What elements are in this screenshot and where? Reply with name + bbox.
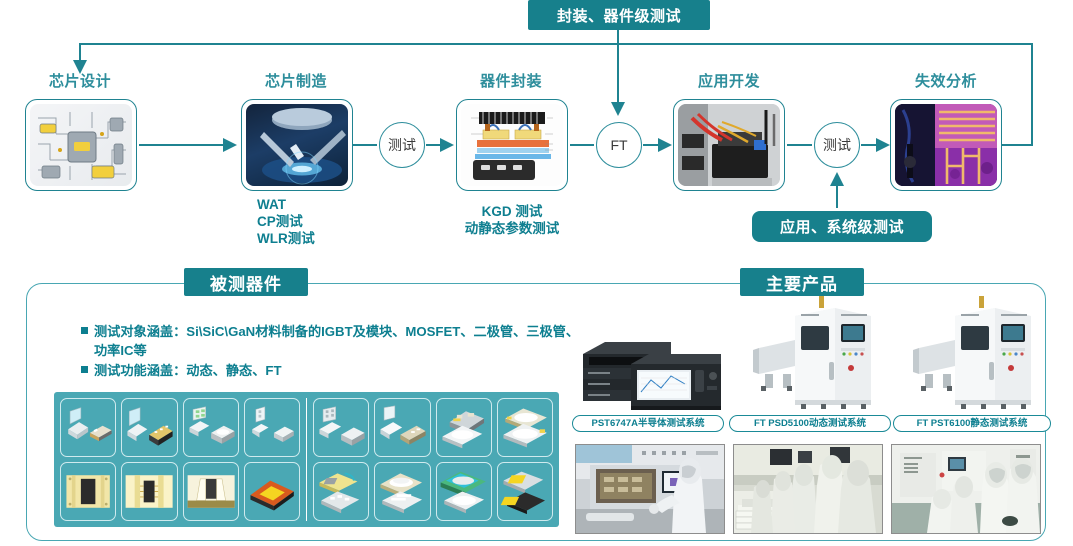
device-thumb	[244, 398, 300, 457]
stage-node-device-package[interactable]	[456, 99, 568, 191]
connector-test-2-label: 测试	[823, 135, 851, 155]
dut-bullet-list: 测试对象涵盖：Si\SiC\GaN材料制备的IGBT及模块、MOSFET、二极管…	[81, 322, 581, 381]
stage-label-chip-design: 芯片设计	[0, 70, 160, 91]
banner-application-system-test: 应用、系统级测试	[752, 211, 932, 242]
device-thumb	[313, 398, 369, 457]
device-thumb	[436, 398, 492, 457]
section-header-main-products-label: 主要产品	[766, 270, 838, 295]
connector-ft[interactable]: FT	[596, 122, 642, 168]
banner-application-system-test-label: 应用、系统级测试	[780, 216, 904, 237]
stage-note-device-package: KGD 测试 动静态参数测试	[412, 203, 612, 237]
device-gallery-group-2	[306, 398, 553, 521]
dut-bullet-2: 测试功能涵盖：动态、静态、FT	[81, 361, 581, 380]
bottom-panel: 被测器件 主要产品 测试对象涵盖：Si\SiC\GaN材料制备的IGBT及模块、…	[26, 283, 1046, 541]
connector-test-1[interactable]: 测试	[379, 122, 425, 168]
product-image-psd5100	[745, 296, 875, 414]
package-cross-section-image	[461, 104, 563, 186]
wafer-probe-image	[246, 104, 348, 186]
device-thumb	[60, 462, 116, 521]
connector-test-2[interactable]: 测试	[814, 122, 860, 168]
stage-label-device-package: 器件封装	[431, 70, 591, 91]
cleanroom-line-photo	[733, 444, 883, 534]
failure-analysis-image	[895, 104, 997, 186]
device-thumb	[374, 462, 430, 521]
product-label-psd5100: FT PSD5100动态测试系统	[729, 415, 891, 432]
device-gallery-group-1	[60, 398, 300, 521]
device-gallery	[54, 392, 559, 527]
stage-label-failure-analysis: 失效分析	[866, 70, 1026, 91]
device-thumb	[374, 398, 430, 457]
device-thumb	[497, 462, 553, 521]
stage-node-chip-manufacture[interactable]	[241, 99, 353, 191]
stage-label-application-dev: 应用开发	[649, 70, 809, 91]
chip-design-image	[30, 104, 132, 186]
product-image-pst6747a	[575, 318, 723, 414]
cleanroom-operator-photo	[575, 444, 725, 534]
application-board-image	[678, 104, 780, 186]
device-thumb	[183, 398, 239, 457]
product-image-pst6100	[905, 296, 1035, 414]
device-thumb	[121, 398, 177, 457]
cleanroom-team-photo	[891, 444, 1041, 534]
banner-package-device-test-label: 封装、器件级测试	[557, 5, 681, 26]
stage-label-chip-manufacture: 芯片制造	[216, 70, 376, 91]
stage-node-failure-analysis[interactable]	[890, 99, 1002, 191]
process-flow-diagram: 封装、器件级测试 应用、系统级测试 芯片设计	[0, 0, 1073, 262]
section-header-device-under-test: 被测器件	[184, 268, 308, 296]
banner-package-device-test: 封装、器件级测试	[528, 0, 710, 30]
section-header-main-products: 主要产品	[740, 268, 864, 296]
device-thumb	[60, 398, 116, 457]
connector-test-1-label: 测试	[388, 135, 416, 155]
device-thumb	[497, 398, 553, 457]
device-thumb	[313, 462, 369, 521]
stage-node-application-dev[interactable]	[673, 99, 785, 191]
section-header-device-under-test-label: 被测器件	[210, 270, 282, 295]
note-dynstat: 动静态参数测试	[412, 220, 612, 237]
dut-bullet-1: 测试对象涵盖：Si\SiC\GaN材料制备的IGBT及模块、MOSFET、二极管…	[81, 322, 581, 360]
device-thumb	[244, 462, 300, 521]
connector-ft-label: FT	[610, 137, 627, 153]
product-label-pst6747a: PST6747A半导体测试系统	[572, 415, 724, 432]
product-label-pst6100: FT PST6100静态测试系统	[893, 415, 1051, 432]
device-thumb	[183, 462, 239, 521]
device-thumb	[121, 462, 177, 521]
device-thumb	[436, 462, 492, 521]
note-kgd: KGD 测试	[412, 203, 612, 220]
stage-node-chip-design[interactable]	[25, 99, 137, 191]
